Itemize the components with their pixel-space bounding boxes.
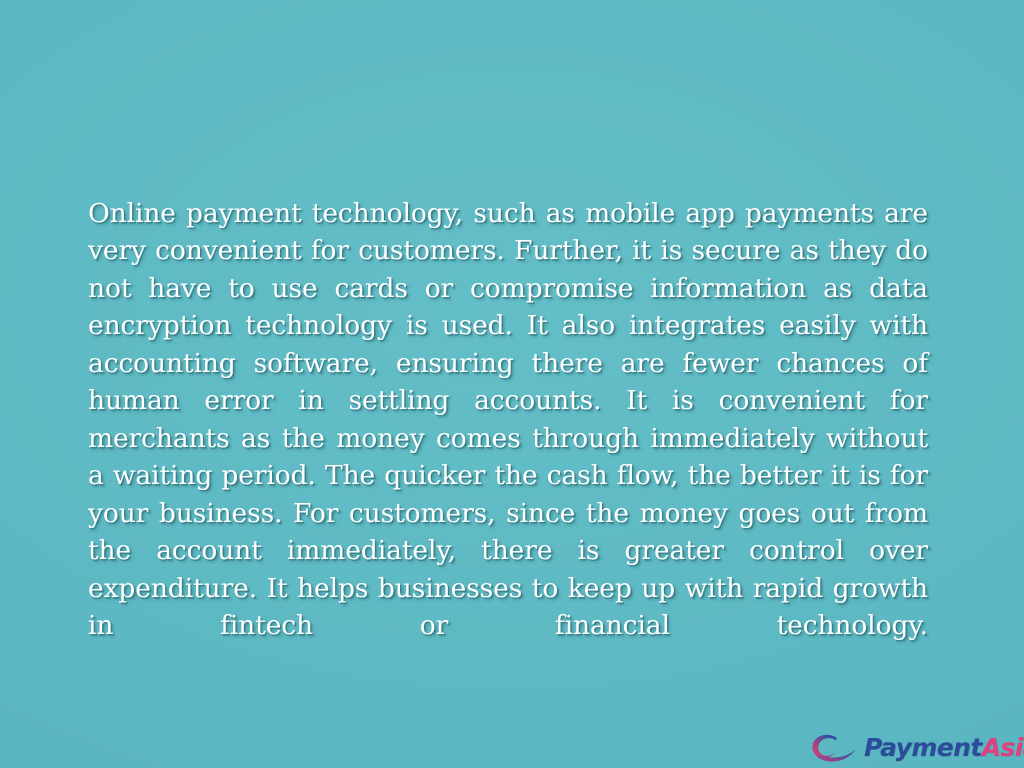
paymentasia-logo: PaymentAsia xyxy=(806,729,1018,765)
paymentasia-swoosh-icon xyxy=(806,730,858,764)
logo-word-payment: Payment xyxy=(864,733,982,762)
body-paragraph: Online payment technology, such as mobil… xyxy=(88,195,928,683)
logo-wordmark: PaymentAsia xyxy=(864,735,1024,760)
slide-canvas: Online payment technology, such as mobil… xyxy=(0,0,1024,768)
logo-word-asia: Asia xyxy=(982,733,1024,762)
